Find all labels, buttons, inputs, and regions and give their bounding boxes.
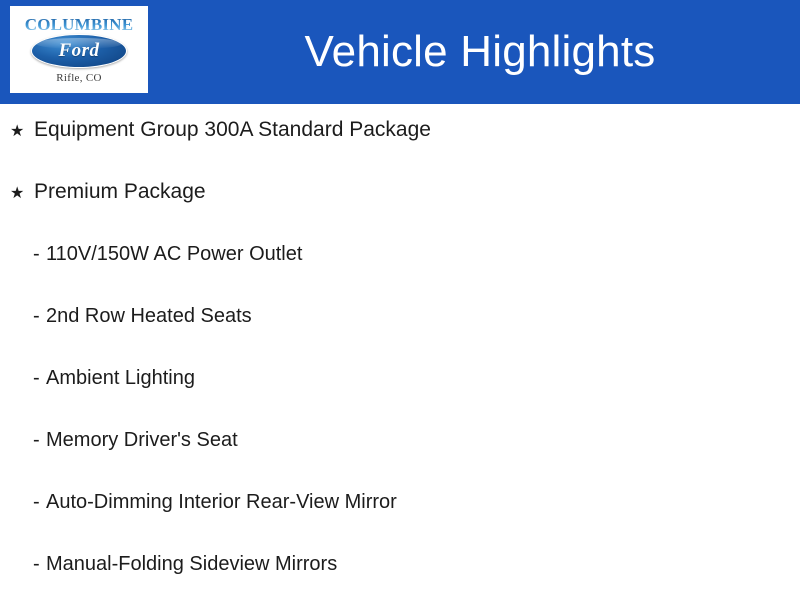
list-item: -Auto-Dimming Interior Rear-View Mirror	[0, 491, 397, 514]
list-item-label: Manual-Folding Sideview Mirrors	[46, 553, 337, 576]
list-item: ★Equipment Group 300A Standard Package	[0, 118, 431, 142]
dash-bullet-icon: -	[33, 429, 46, 452]
list-item: -Manual-Folding Sideview Mirrors	[0, 553, 337, 576]
list-item: -Ambient Lighting	[0, 367, 195, 390]
list-item-label: Auto-Dimming Interior Rear-View Mirror	[46, 491, 397, 514]
dash-bullet-icon: -	[33, 491, 46, 514]
page-title: Vehicle Highlights	[160, 0, 800, 104]
list-item-label: Premium Package	[34, 180, 206, 204]
dash-bullet-icon: -	[33, 243, 46, 266]
list-item-label: Equipment Group 300A Standard Package	[34, 118, 431, 142]
vehicle-highlights-page: COLUMBINE Ford Rifle, CO Vehicle Highlig…	[0, 0, 800, 600]
ford-oval-icon: Ford	[31, 34, 127, 68]
dash-bullet-icon: -	[33, 367, 46, 390]
star-bullet-icon: ★	[10, 124, 34, 140]
list-item-label: Memory Driver's Seat	[46, 429, 238, 452]
ford-wordmark: Ford	[58, 41, 99, 60]
highlights-list: ★Equipment Group 300A Standard Package★P…	[0, 104, 800, 600]
list-item: ★Premium Package	[0, 180, 206, 204]
dash-bullet-icon: -	[33, 305, 46, 328]
list-item: -110V/150W AC Power Outlet	[0, 243, 302, 266]
list-item: -Memory Driver's Seat	[0, 429, 238, 452]
list-item-label: 2nd Row Heated Seats	[46, 305, 252, 328]
list-item-label: Ambient Lighting	[46, 367, 195, 390]
list-item-label: 110V/150W AC Power Outlet	[46, 243, 302, 266]
list-item: -2nd Row Heated Seats	[0, 305, 252, 328]
star-bullet-icon: ★	[10, 186, 34, 202]
dealer-logo[interactable]: COLUMBINE Ford Rifle, CO	[10, 6, 148, 93]
dash-bullet-icon: -	[33, 553, 46, 576]
dealer-brand-name: COLUMBINE	[25, 16, 134, 33]
page-header: COLUMBINE Ford Rifle, CO Vehicle Highlig…	[0, 0, 800, 104]
dealer-location: Rifle, CO	[56, 72, 101, 84]
